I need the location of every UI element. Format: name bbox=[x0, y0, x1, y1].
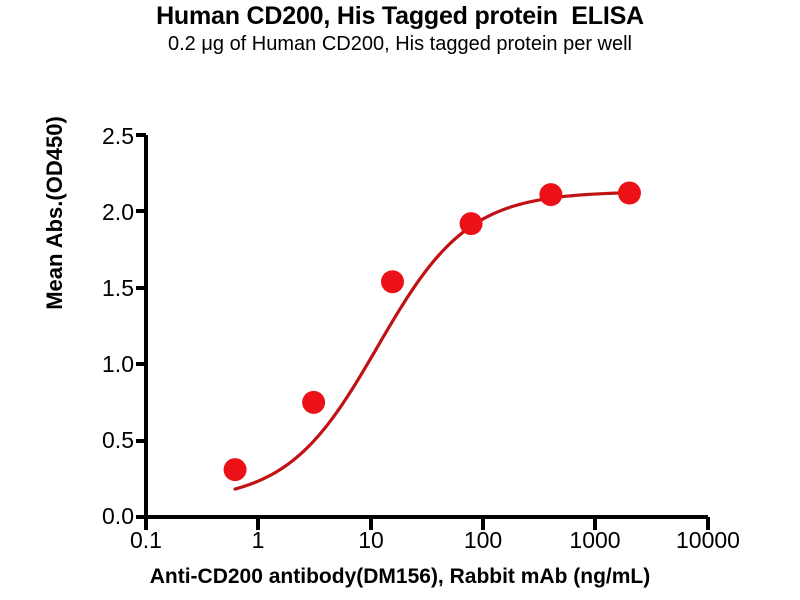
elisa-chart-figure: Human CD200, His Tagged protein ELISA 0.… bbox=[0, 0, 800, 600]
data-point bbox=[539, 183, 562, 206]
data-point bbox=[302, 391, 325, 414]
data-point bbox=[381, 270, 404, 293]
data-point bbox=[460, 212, 483, 235]
data-point-group bbox=[224, 182, 641, 482]
data-point bbox=[224, 458, 247, 481]
plot-area bbox=[0, 0, 800, 600]
data-point bbox=[618, 182, 641, 205]
fitted-curve bbox=[235, 193, 629, 489]
